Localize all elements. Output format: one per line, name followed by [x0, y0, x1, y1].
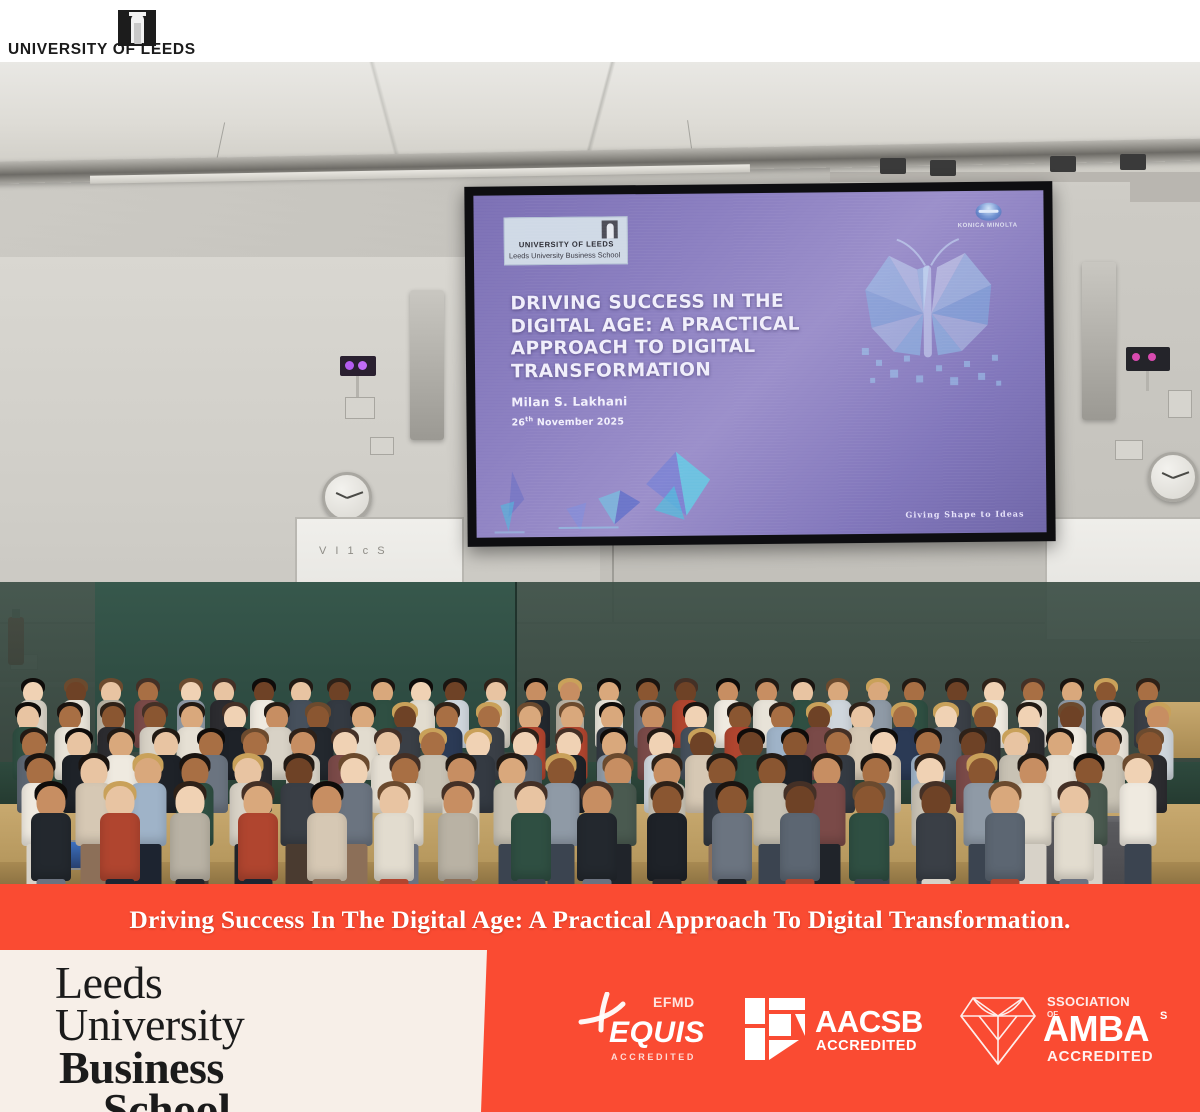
attendee	[645, 781, 689, 884]
attendee-torso	[31, 813, 71, 881]
attendee-torso	[849, 813, 889, 881]
attendee-torso	[1054, 813, 1094, 881]
attendee-legs	[244, 879, 273, 884]
equis-name: EQUIS	[609, 1016, 705, 1050]
attendee-legs	[990, 879, 1019, 884]
attendee-torso	[1120, 783, 1157, 846]
attendee-torso	[238, 813, 278, 881]
crowd-of-attendees	[0, 62, 1200, 884]
attendee-torso	[100, 813, 140, 881]
amba-accredited-label: ACCREDITED	[1047, 1048, 1153, 1065]
accreditation-amba: SSOCIATION OF AMBA S ACCREDITED	[955, 980, 1185, 1090]
poster-page: UNIVERSITY OF LEEDS	[0, 0, 1200, 1112]
attendee-torso	[985, 813, 1025, 881]
aacsb-accredited-label: ACCREDITED	[816, 1038, 917, 1054]
brand-line-4: School	[103, 1089, 244, 1112]
attendee-torso	[712, 813, 752, 881]
attendee-torso	[577, 813, 617, 881]
attendee	[1052, 781, 1096, 884]
attendee-legs	[786, 879, 815, 884]
attendee-legs	[175, 879, 204, 884]
attendee-torso	[307, 813, 347, 881]
accreditation-equis: EFMD EQUIS ACCREDITED	[575, 980, 715, 1090]
brand-line-3: Business	[59, 1047, 244, 1089]
attendee	[983, 781, 1027, 884]
attendee	[372, 781, 416, 884]
attendee	[236, 781, 280, 884]
accreditation-aacsb: AACSB ACCREDITED	[745, 980, 935, 1090]
attendee	[1118, 753, 1159, 884]
attendee	[436, 781, 480, 884]
attendee-legs	[380, 879, 409, 884]
attendee-legs	[854, 879, 883, 884]
attendee-torso	[170, 813, 210, 881]
attendee	[168, 781, 212, 884]
attendee	[710, 781, 754, 884]
event-group-photo: V I 1 c S UNIVERSITY OF LEEDS Leeds Univ…	[0, 62, 1200, 884]
attendee	[778, 781, 822, 884]
attendee-legs	[517, 879, 546, 884]
top-header-bar: UNIVERSITY OF LEEDS	[0, 0, 1200, 62]
attendee-legs	[312, 879, 341, 884]
attendee-torso	[647, 813, 687, 881]
amba-name: AMBA	[1043, 1008, 1149, 1050]
aacsb-square-icon	[745, 998, 805, 1060]
attendee-legs	[583, 879, 612, 884]
attendee-legs	[922, 879, 951, 884]
attendee-legs	[37, 879, 66, 884]
aacsb-name: AACSB	[815, 1004, 923, 1040]
attendee-torso	[438, 813, 478, 881]
attendee	[509, 781, 553, 884]
attendee-torso	[374, 813, 414, 881]
institution-name: UNIVERSITY OF LEEDS	[8, 41, 196, 59]
equis-accredited-label: ACCREDITED	[611, 1052, 696, 1062]
attendee-legs	[652, 879, 681, 884]
attendee	[575, 781, 619, 884]
attendee	[305, 781, 349, 884]
attendee	[29, 781, 73, 884]
attendee-legs	[718, 879, 747, 884]
attendee-torso	[916, 813, 956, 881]
attendee-torso	[511, 813, 551, 881]
attendee	[98, 781, 142, 884]
attendee-torso	[780, 813, 820, 881]
brand-line-2: University	[55, 1004, 244, 1046]
efmd-label: EFMD	[653, 994, 695, 1010]
leeds-university-business-school-logo: Leeds University Business School	[55, 962, 244, 1112]
caption-text: Driving Success In The Digital Age: A Pr…	[0, 884, 1200, 956]
attendee-legs	[1125, 844, 1152, 884]
attendee-legs	[444, 879, 473, 884]
attendee	[914, 781, 958, 884]
university-of-leeds-logo: UNIVERSITY OF LEEDS	[8, 8, 188, 58]
amba-prefix: SSOCIATION	[1047, 994, 1130, 1009]
brand-line-1: Leeds	[55, 962, 244, 1004]
amba-superscript: S	[1160, 1010, 1167, 1022]
attendee-legs	[1060, 879, 1089, 884]
attendee-legs	[105, 879, 134, 884]
amba-diamond-icon	[955, 990, 1041, 1068]
attendee	[847, 781, 891, 884]
